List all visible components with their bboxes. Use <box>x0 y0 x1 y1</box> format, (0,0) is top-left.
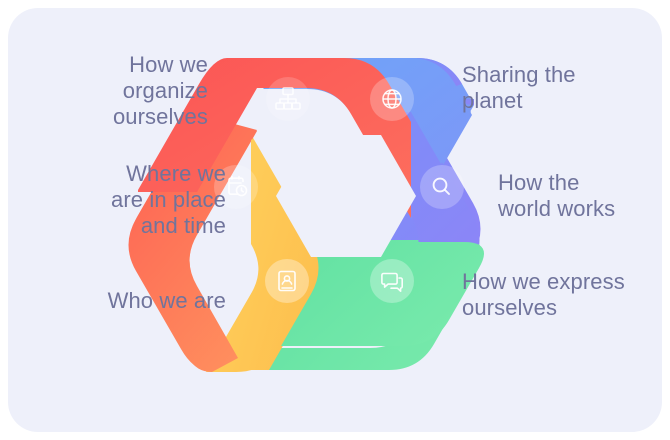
badge-organize[interactable] <box>266 77 310 121</box>
label-sharing-the-planet: Sharing the planet <box>462 62 670 114</box>
badge-express[interactable] <box>370 259 414 303</box>
badge-circle-express <box>370 259 414 303</box>
label-who-we-are: Who we are <box>16 288 226 314</box>
label-where-we-are-in-place-and-time: Where we are in place and time <box>16 161 226 239</box>
label-how-we-express-ourselves: How we express ourselves <box>462 269 670 321</box>
badge-world[interactable] <box>420 165 464 209</box>
label-how-we-organize-ourselves: How we organize ourselves <box>0 52 208 130</box>
badge-circle-world <box>420 165 464 209</box>
badge-who[interactable] <box>265 259 309 303</box>
label-how-the-world-works: How the world works <box>498 170 670 222</box>
badge-sharing[interactable] <box>370 77 414 121</box>
